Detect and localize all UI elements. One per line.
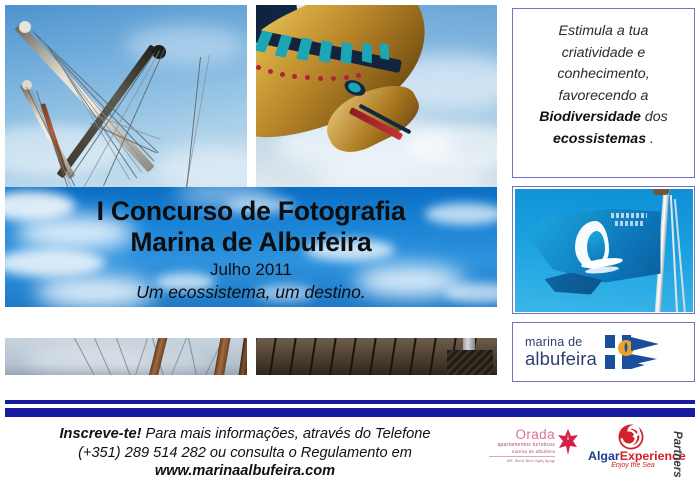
spiral-icon (618, 424, 644, 450)
footer-cta: Inscreve-te! (60, 426, 142, 442)
poster-canvas: I Concurso de Fotografia Marina de Albuf… (0, 0, 700, 487)
photo-blue-flag-box (512, 186, 695, 314)
orada-divider (489, 456, 555, 457)
footer-line1-rest: Para mais informações, através do Telefo… (141, 426, 430, 442)
footer-contact-text: Inscreve-te! Para mais informações, atra… (20, 425, 470, 481)
marina-logo-text: marina de albufeira (525, 336, 597, 368)
poster-date: Julho 2011 (210, 260, 292, 280)
algarexperience-name: AlgarExperience (588, 449, 678, 463)
poster-title-line2: Marina de Albufeira (130, 227, 371, 258)
orada-mark-icon (557, 428, 579, 458)
marina-logo-line2: albufeira (525, 350, 597, 369)
quote-text: Estimula a tua criatividade e conhecimen… (513, 9, 694, 150)
algarexperience-tagline: Enjoy the Sea (588, 462, 678, 469)
partners-label: Partners (668, 424, 686, 484)
quote-bold-ecossistemas: ecossistemas (553, 131, 646, 147)
algar-word: Algar (588, 449, 620, 463)
footer-website[interactable]: www.marinaalbufeira.com (155, 463, 335, 479)
orada-sub2: marina de albufeira (512, 449, 555, 454)
quote-part2: dos (641, 109, 668, 125)
orada-stars: • • • • (538, 459, 554, 464)
quote-box: Estimula a tua criatividade e conhecimen… (512, 8, 695, 178)
orada-name: Orada (515, 427, 555, 442)
photo-rigging-strip (5, 338, 247, 375)
orada-sub1: apartamentos turísticos (497, 442, 555, 448)
poster-slogan: Um ecossistema, um destino. (136, 282, 366, 303)
photo-deck-strip (256, 338, 497, 375)
photo-golden-boat-bow (256, 5, 497, 187)
orada-logo: Orada apartamentos turísticos marina de … (482, 426, 577, 468)
quote-bold-biodiversidade: Biodiversidade (539, 109, 641, 125)
marina-logo-line1: marina de (525, 336, 597, 349)
quote-part1: Estimula a tua criatividade e conhecimen… (557, 23, 649, 104)
divider-rule-top (5, 400, 695, 404)
photo-blue-flag (515, 189, 693, 312)
marina-flag-emblem-icon (603, 332, 663, 372)
partners-strip: Orada apartamentos turísticos marina de … (470, 420, 700, 487)
title-banner: I Concurso de Fotografia Marina de Albuf… (5, 187, 497, 307)
quote-part3: . (646, 131, 654, 147)
marina-logo-box: marina de albufeira (512, 322, 695, 382)
footer-line2: (+351) 289 514 282 ou consulta o Regulam… (20, 444, 470, 463)
algarexperience-logo: AlgarExperience Enjoy the Sea (588, 424, 678, 472)
photo-ship-mast (5, 5, 247, 187)
poster-title-line1: I Concurso de Fotografia (97, 196, 406, 227)
divider-rule-bottom (5, 408, 695, 417)
